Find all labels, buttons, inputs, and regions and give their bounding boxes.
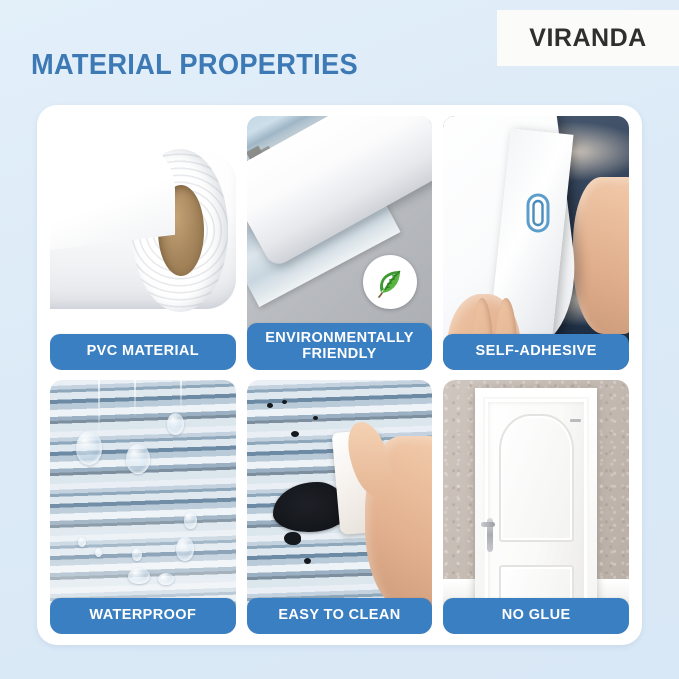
- paperclip-icon: [523, 192, 553, 234]
- feature-grid: PVC MATERIAL: [50, 116, 629, 634]
- card-label-easy-to-clean: EASY TO CLEAN: [247, 598, 433, 634]
- door-handle-icon: [487, 518, 493, 552]
- card-label-pvc-material: PVC MATERIAL: [50, 334, 236, 370]
- infographic-page: VIRANDA MATERIAL PROPERTIES PVC MATERIAL: [0, 0, 679, 679]
- card-label-self-adhesive: SELF-ADHESIVE: [443, 334, 629, 370]
- brand-name: VIRANDA: [529, 24, 646, 53]
- water-droplets-image: [50, 380, 236, 634]
- self-adhesive-image: [443, 116, 629, 370]
- feature-card-self-adhesive[interactable]: SELF-ADHESIVE: [443, 116, 629, 370]
- content-panel: PVC MATERIAL: [37, 105, 642, 645]
- cloth-wipe-image: [247, 380, 433, 634]
- feature-card-no-glue[interactable]: NO GLUE: [443, 380, 629, 634]
- card-label-environmentally-friendly: ENVIRONMENTALLY FRIENDLY: [247, 323, 433, 370]
- feature-card-waterproof[interactable]: WATERPROOF: [50, 380, 236, 634]
- card-label-no-glue: NO GLUE: [443, 598, 629, 634]
- feature-card-easy-to-clean[interactable]: EASY TO CLEAN: [247, 380, 433, 634]
- card-label-waterproof: WATERPROOF: [50, 598, 236, 634]
- feature-card-environmentally-friendly[interactable]: ENVIRONMENTALLY FRIENDLY: [247, 116, 433, 370]
- page-title: MATERIAL PROPERTIES: [31, 49, 358, 82]
- pvc-roll-image: [50, 116, 236, 370]
- leaf-badge-icon: [363, 255, 417, 309]
- door-image: [443, 380, 629, 634]
- brand-logo: VIRANDA: [497, 10, 679, 66]
- feature-card-pvc-material[interactable]: PVC MATERIAL: [50, 116, 236, 370]
